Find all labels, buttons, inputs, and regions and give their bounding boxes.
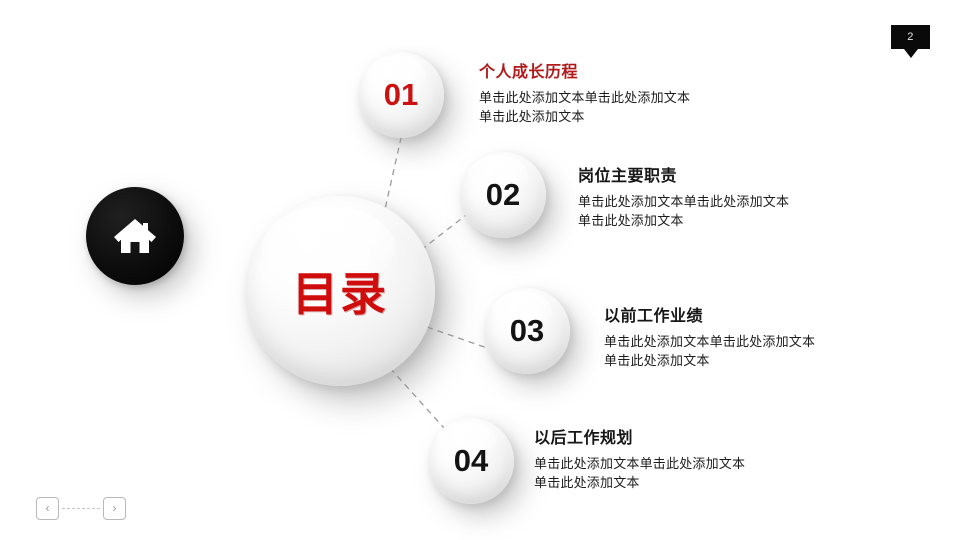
number-label-02: 02 — [486, 177, 520, 213]
badge-tail — [904, 49, 918, 58]
home-icon — [112, 215, 158, 257]
slide-canvas: 2 目录 01 02 03 04 个人成长历程 单击此处 — [0, 0, 960, 540]
item-title-04: 以后工作规划 — [534, 424, 745, 448]
number-label-01: 01 — [384, 77, 418, 113]
item-body-line2-01: 单击此处添加文本 — [479, 107, 690, 126]
item-body-line2-04: 单击此处添加文本 — [534, 473, 745, 492]
bottom-navigation: ‹ › — [36, 497, 126, 520]
item-text-block-04: 以后工作规划 单击此处添加文本单击此处添加文本 单击此处添加文本 — [534, 424, 745, 492]
center-sphere[interactable]: 目录 — [245, 196, 435, 386]
number-sphere-02[interactable]: 02 — [460, 152, 546, 238]
home-button[interactable] — [86, 187, 184, 285]
page-number-badge: 2 — [891, 25, 930, 49]
prev-slide-button[interactable]: ‹ — [36, 497, 59, 520]
number-label-04: 04 — [454, 443, 488, 479]
page-number-text: 2 — [907, 31, 914, 43]
item-body-line2-03: 单击此处添加文本 — [604, 351, 815, 370]
item-body-line1-03: 单击此处添加文本单击此处添加文本 — [604, 332, 815, 351]
item-body-line1-01: 单击此处添加文本单击此处添加文本 — [479, 88, 690, 107]
next-slide-button[interactable]: › — [103, 497, 126, 520]
item-text-block-01: 个人成长历程 单击此处添加文本单击此处添加文本 单击此处添加文本 — [479, 58, 690, 126]
item-body-line1-02: 单击此处添加文本单击此处添加文本 — [578, 192, 789, 211]
item-title-03: 以前工作业绩 — [604, 302, 815, 326]
center-sphere-label: 目录 — [292, 258, 388, 324]
number-sphere-04[interactable]: 04 — [428, 418, 514, 504]
nav-dashed-divider — [62, 508, 100, 509]
number-sphere-01[interactable]: 01 — [358, 52, 444, 138]
item-title-02: 岗位主要职责 — [578, 162, 789, 186]
item-body-line1-04: 单击此处添加文本单击此处添加文本 — [534, 454, 745, 473]
item-title-01: 个人成长历程 — [479, 58, 690, 82]
number-sphere-03[interactable]: 03 — [484, 288, 570, 374]
number-label-03: 03 — [510, 313, 544, 349]
item-text-block-03: 以前工作业绩 单击此处添加文本单击此处添加文本 单击此处添加文本 — [604, 302, 815, 370]
chevron-right-icon: › — [113, 501, 117, 515]
chevron-left-icon: ‹ — [46, 501, 50, 515]
item-text-block-02: 岗位主要职责 单击此处添加文本单击此处添加文本 单击此处添加文本 — [578, 162, 789, 230]
item-body-line2-02: 单击此处添加文本 — [578, 211, 789, 230]
